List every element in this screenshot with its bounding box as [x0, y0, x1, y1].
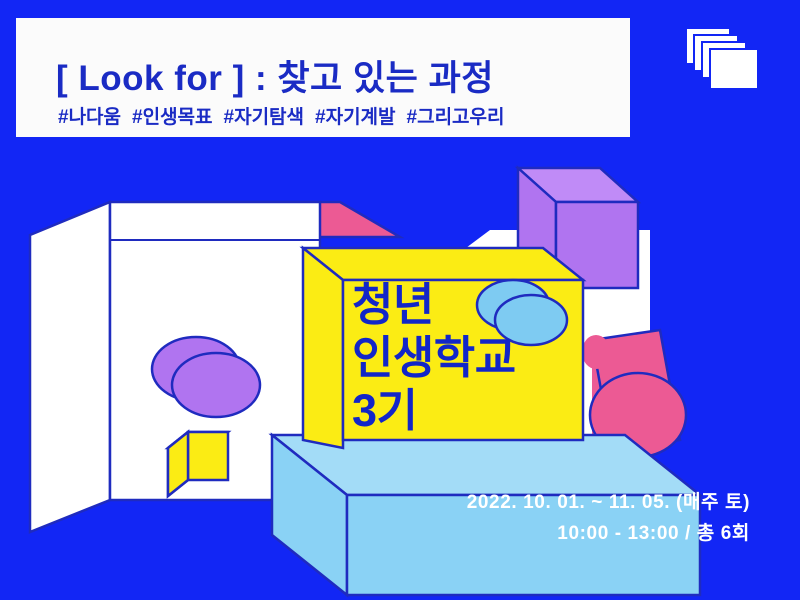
hashtag-item: #자기계발 — [315, 107, 396, 128]
schedule-text: 2022. 10. 01. ~ 11. 05. (매주 토) 10:00 - 1… — [330, 487, 750, 549]
hashtag-list: #나다움#인생목표#자기탐색#자기계발#그리고우리 — [58, 102, 515, 129]
headline-line: 청년 — [352, 278, 592, 331]
schedule-line-dates: 2022. 10. 01. ~ 11. 05. (매주 토) — [330, 487, 750, 518]
schedule-line-times: 10:00 - 13:00 / 총 6회 — [330, 518, 750, 549]
hashtag-item: #자기탐색 — [224, 107, 305, 128]
poster-canvas: [ Look for ] : 찾고 있는 과정 #나다움#인생목표#자기탐색#자… — [0, 0, 800, 600]
stacked-pages-icon — [685, 27, 763, 99]
hashtag-item: #인생목표 — [132, 107, 213, 128]
hashtag-item: #그리고우리 — [407, 107, 505, 128]
stack-sheet-4 — [709, 48, 759, 90]
headline-line: 인생학교 — [352, 331, 592, 384]
header-card: [ Look for ] : 찾고 있는 과정 #나다움#인생목표#자기탐색#자… — [16, 18, 630, 137]
page-title: [ Look for ] : 찾고 있는 과정 — [56, 50, 494, 101]
main-headline: 청년 인생학교 3기 — [352, 278, 592, 437]
hashtag-item: #나다움 — [58, 107, 121, 128]
headline-line: 3기 — [352, 384, 592, 437]
